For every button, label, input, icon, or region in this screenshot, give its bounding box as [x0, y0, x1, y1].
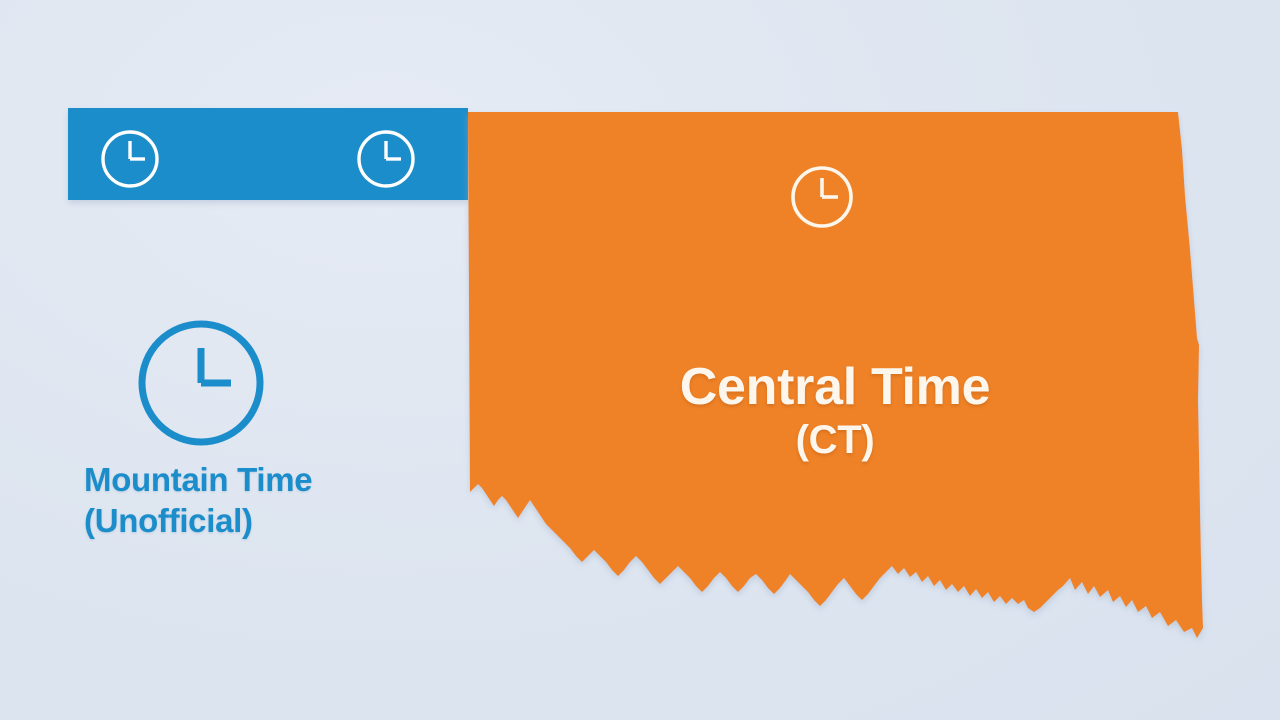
mountain-time-label-line1: Mountain Time [84, 462, 404, 499]
clock-icon-legend-mountain [133, 315, 269, 451]
clock-icon-central [787, 162, 857, 232]
time-zone-map-graphic: Central Time (CT) Mountain Time (Unoffic… [0, 0, 1280, 720]
clock-icon-panhandle-west [98, 127, 162, 191]
central-time-label: Central Time (CT) [470, 358, 1200, 463]
central-time-label-line2: (CT) [470, 418, 1200, 463]
clock-icon-panhandle-east [354, 127, 418, 191]
central-time-label-line1: Central Time [470, 358, 1200, 416]
mountain-time-legend-label: Mountain Time (Unofficial) [84, 462, 404, 540]
mountain-time-label-line2: (Unofficial) [84, 503, 404, 540]
